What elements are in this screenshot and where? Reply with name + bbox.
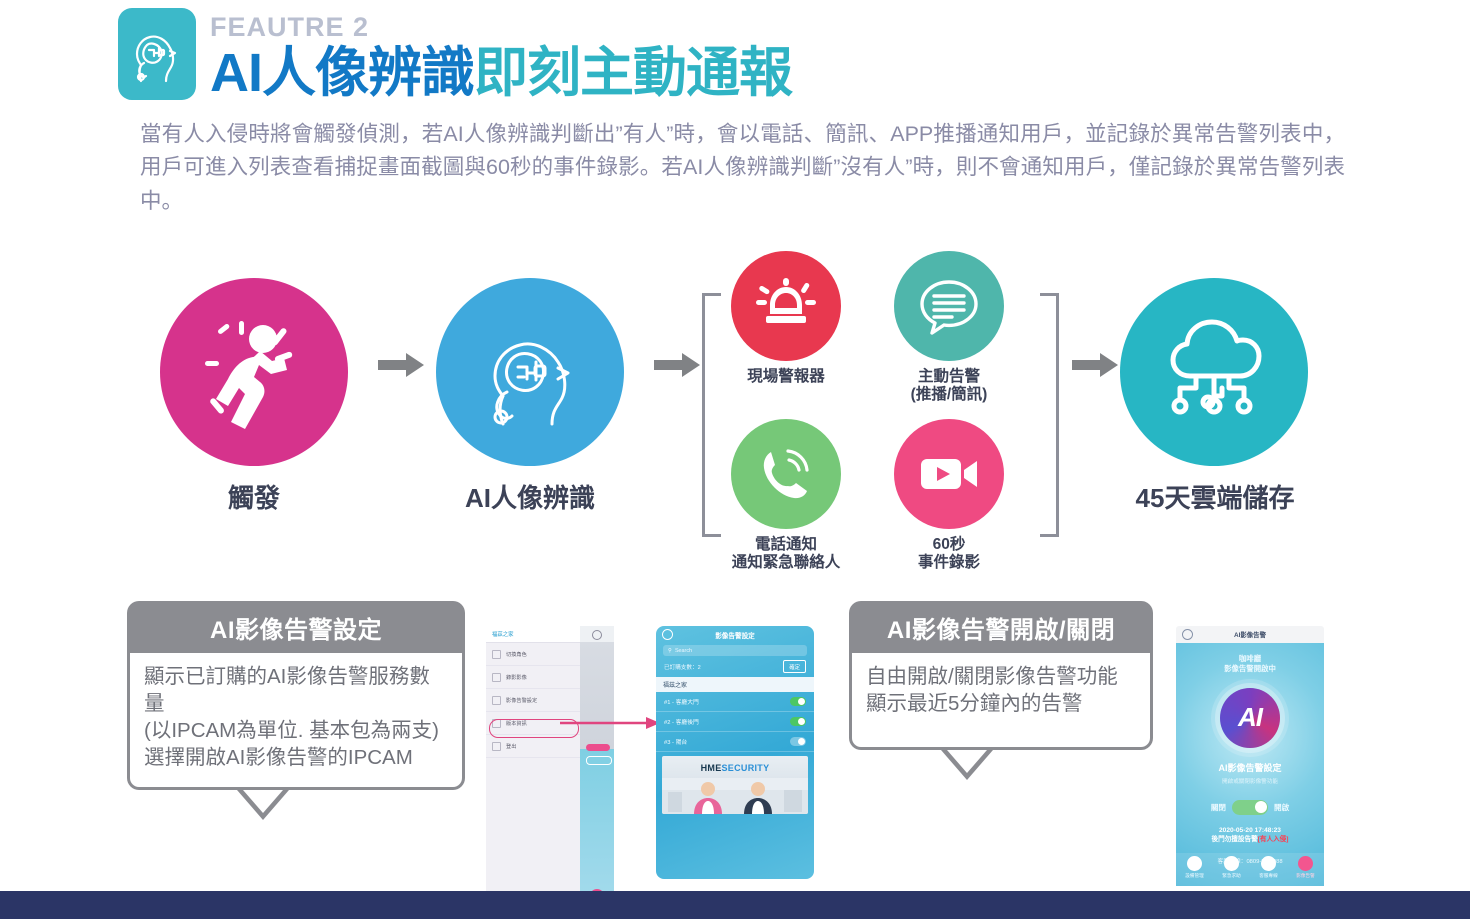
chat-bubble-icon (917, 276, 981, 336)
alert-icon (492, 696, 501, 705)
device-icon (1187, 856, 1202, 871)
nav-item-emergency-label: 緊急求助 (1213, 873, 1250, 879)
flow-label-phone: 電話通知 通知緊急聯絡人 (705, 536, 867, 572)
callout-setting-body: 顯示已訂購的AI影像告警服務數量 (以IPCAM為單位. 基本包為兩支) 選擇開… (127, 653, 465, 790)
right-arrow-icon-3 (1072, 352, 1118, 378)
ai-brain-head-icon (470, 312, 590, 432)
alarm-toggle-row[interactable]: 關閉 開啟 (1176, 800, 1324, 815)
video-camera-icon (918, 450, 980, 498)
toggle-off-label: 關閉 (1211, 802, 1226, 813)
flow-label-push: 主動告警 (推播/簡訊) (868, 368, 1030, 404)
flow-label-record-l2: 事件錄影 (868, 554, 1030, 572)
flow-label-phone-l2: 通知緊急聯絡人 (705, 554, 867, 572)
alarm-toggle[interactable] (1232, 800, 1268, 815)
right-arrow-icon-2 (654, 352, 700, 378)
flow-label-trigger: 觸發 (160, 484, 348, 514)
flow-action-siren (731, 251, 841, 361)
search-icon: ⚲ (668, 648, 672, 654)
app-side-menu: 福茲之家 切換角色 錄影影像 影像告警設定 版本資訊 (486, 626, 580, 919)
callout-setting-line-2: (以IPCAM為單位. 基本包為兩支) (144, 717, 448, 744)
page-footer-bar (0, 891, 1470, 919)
toggle-on-label: 開啟 (1274, 802, 1289, 813)
siren-icon (753, 276, 819, 336)
page-title-part2: 即刻主動通報 (474, 43, 792, 103)
search-placeholder: Search (675, 648, 692, 654)
intro-paragraph: 當有人入侵時將會觸發偵測，若AI人像辨識判斷出”有人”時，會以電話、簡訊、APP… (140, 118, 1345, 218)
menu-item-alarm-setting[interactable]: 影像告警設定 (486, 689, 580, 712)
ai-head-icon (118, 8, 196, 100)
bottom-nav: 設備管理 緊急求助 客服專線 影像告警 (1176, 853, 1324, 886)
nav-item-hotline-label: 客服專線 (1250, 873, 1287, 879)
event-tag: [有人入侵] (1258, 836, 1289, 843)
ai-logo-icon: AI (1220, 688, 1280, 748)
phone-screenshot-alarm: AI影像告警 咖啡廳 影像告警開啟中 AI AI影像告警設定 開啟或關閉影像警功… (1176, 626, 1324, 919)
flow-label-push-l1: 主動告警 (868, 368, 1030, 386)
phone2-titlebar: 影像告警設定 (656, 626, 814, 643)
logo-part-b: ME (707, 763, 721, 773)
menu-item-switch-role[interactable]: 切換角色 (486, 643, 580, 666)
flow-label-cloud: 45天雲端儲存 (1090, 484, 1340, 514)
promo-banner: HMESECURITY (662, 756, 808, 814)
phone4-body: 咖啡廳 影像告警開啟中 AI AI影像告警設定 開啟或關閉影像警功能 關閉 開啟… (1176, 643, 1324, 886)
running-person-icon (195, 313, 313, 431)
callout-onoff: AI影像告警開啟/關閉 自由開啟/關閉影像告警功能 顯示最近5分鐘內的告警 (849, 601, 1153, 750)
callout-onoff-title: AI影像告警開啟/關閉 (849, 601, 1153, 653)
subscribed-label: 已訂購支數：2 (664, 663, 701, 671)
logo-part-c: SECURITY (722, 763, 770, 773)
menu-toggle-icon[interactable] (592, 630, 602, 640)
camera-row[interactable]: #3 - 陽台 (656, 732, 814, 752)
right-arrow-icon (378, 352, 424, 378)
camera-row[interactable]: #2 - 客廳後門 (656, 712, 814, 732)
phone-icon (1261, 856, 1276, 871)
latest-event: 2020-05-20 17:48:23 後門勿擅設告警[有人入侵] (1176, 826, 1324, 844)
bell-icon (1298, 856, 1313, 871)
callout-onoff-line-2: 顯示最近5分鐘內的告警 (866, 690, 1136, 717)
nav-item-device[interactable]: 設備管理 (1176, 853, 1213, 886)
phone-video-pane (580, 626, 614, 919)
nav-item-alarm-label: 影像告警 (1287, 873, 1324, 879)
camera-row-label: #2 - 客廳後門 (664, 717, 699, 726)
menu-item-switch-role-label: 切換角色 (506, 651, 527, 658)
phone2-title: 影像告警設定 (715, 630, 755, 640)
search-input[interactable]: ⚲ Search (663, 645, 807, 656)
flow-step-cloud (1120, 278, 1308, 466)
phone-screenshot-menu: 福茲之家 切換角色 錄影影像 影像告警設定 版本資訊 (486, 626, 614, 919)
switch-icon (492, 650, 501, 659)
alarm-status-line1: 咖啡廳 (1176, 654, 1324, 664)
subscribed-row: 已訂購支數：2 確定 (656, 660, 814, 673)
alarm-setting-sub: 開啟或關閉影像警功能 (1176, 777, 1324, 785)
menu-home-label: 福茲之家 (486, 626, 580, 643)
menu-item-logout[interactable]: 登出 (486, 735, 580, 758)
camera-row-label: #3 - 陽台 (664, 737, 687, 746)
flow-label-record-l1: 60秒 (868, 536, 1030, 554)
infographic-page: FEAUTRE 2 AI人像辨識即刻主動通報 當有人入侵時將會觸發偵測，若AI人… (0, 0, 1470, 919)
phone-screenshot-setting: 影像告警設定 ⚲ Search 已訂購支數：2 確定 福茲之家 #1 - 客廳大… (656, 626, 814, 879)
camera-toggle[interactable] (790, 697, 806, 706)
flow-action-phone (731, 419, 841, 529)
nav-item-device-label: 設備管理 (1176, 873, 1213, 879)
camera-row[interactable]: #1 - 客廳大門 (656, 692, 814, 712)
bracket-left (702, 293, 721, 537)
alarm-setting-title: AI影像告警設定 (1176, 761, 1324, 774)
flow-step-ai (436, 278, 624, 466)
menu-item-alarm-setting-label: 影像告警設定 (506, 697, 537, 704)
pink-connector-arrow (560, 716, 660, 728)
callout-onoff-body: 自由開啟/關閉影像告警功能 顯示最近5分鐘內的告警 (849, 653, 1153, 750)
nav-item-emergency[interactable]: 緊急求助 (1213, 853, 1250, 886)
group-header: 福茲之家 (656, 677, 814, 692)
camera-row-label: #1 - 客廳大門 (664, 697, 699, 706)
phone4-titlebar: AI影像告警 (1176, 626, 1324, 643)
callout-setting: AI影像告警設定 顯示已訂購的AI影像告警服務數量 (以IPCAM為單位. 基本… (127, 601, 465, 790)
flow-label-siren: 現場警報器 (705, 368, 867, 386)
flow-label-siren-l1: 現場警報器 (747, 368, 825, 385)
alarm-status: 咖啡廳 影像告警開啟中 (1176, 643, 1324, 674)
flow-label-record: 60秒 事件錄影 (868, 536, 1030, 572)
flow-action-record (894, 419, 1004, 529)
ai-logo-text: AI (1238, 702, 1262, 733)
phone4-title: AI影像告警 (1234, 630, 1266, 639)
menu-item-recordings[interactable]: 錄影影像 (486, 666, 580, 689)
camera-toggle[interactable] (790, 717, 806, 726)
home-security-logo: HMESECURITY (662, 763, 808, 773)
flow-label-phone-l1: 電話通知 (705, 536, 867, 554)
page-title: AI人像辨識即刻主動通報 (210, 45, 792, 102)
video-tag-pill-outline (586, 756, 612, 765)
promo-people-photo (662, 778, 808, 814)
nav-item-alarm[interactable]: 影像告警 (1287, 853, 1324, 886)
callout-onoff-tail (941, 750, 993, 780)
logout-icon (492, 742, 501, 751)
alarm-icon (1224, 856, 1239, 871)
film-icon (492, 673, 501, 682)
callout-onoff-line-1: 自由開啟/關閉影像告警功能 (866, 663, 1136, 690)
feature-kicker: FEAUTRE 2 (210, 14, 792, 41)
flow-step-trigger (160, 278, 348, 466)
flow-label-ai: AI人像辨識 (422, 484, 638, 514)
callout-setting-line-1: 顯示已訂購的AI影像告警服務數量 (144, 663, 448, 717)
flow-diagram: 觸發 AI人像辨識 (0, 240, 1470, 585)
flow-label-push-l2: (推播/簡訊) (868, 386, 1030, 404)
phone-ring-icon (755, 444, 817, 504)
back-icon[interactable] (1182, 629, 1193, 640)
callout-setting-line-3: 選擇開啟AI影像告警的IPCAM (144, 744, 448, 771)
callout-setting-title: AI影像告警設定 (127, 601, 465, 653)
flow-action-push (894, 251, 1004, 361)
event-text: 後門勿擅設告警 (1212, 836, 1258, 843)
event-time: 2020-05-20 17:48:23 (1176, 826, 1324, 835)
page-title-part1: AI人像辨識 (210, 43, 474, 103)
event-desc: 後門勿擅設告警[有人入侵] (1176, 835, 1324, 844)
callout-setting-tail (237, 790, 289, 820)
bracket-right (1040, 293, 1059, 537)
back-icon[interactable] (662, 629, 673, 640)
cloud-network-icon (1154, 316, 1274, 428)
menu-item-recordings-label: 錄影影像 (506, 674, 527, 681)
page-header: FEAUTRE 2 AI人像辨識即刻主動通報 (118, 8, 792, 102)
menu-item-logout-label: 登出 (506, 743, 516, 750)
camera-toggle[interactable] (790, 737, 806, 746)
video-tag-pill (586, 744, 610, 751)
nav-item-hotline[interactable]: 客服專線 (1250, 853, 1287, 886)
alarm-status-line2: 影像告警開啟中 (1176, 664, 1324, 674)
phone-video-topbar (580, 626, 614, 642)
confirm-button[interactable]: 確定 (783, 660, 806, 673)
